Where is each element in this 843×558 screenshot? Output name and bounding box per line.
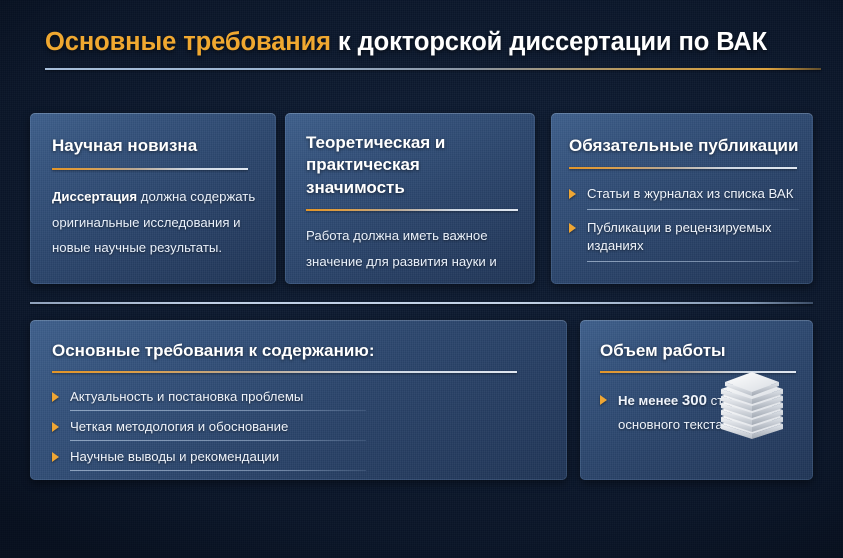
list-item-divider (70, 410, 366, 411)
card-underline (306, 209, 518, 211)
list-item[interactable]: Актуальность и постановка проблемы (52, 388, 366, 411)
bullet-triangle-icon (52, 452, 59, 462)
card-body-scientific-novelty: Диссертация должна содержать оригинальны… (52, 184, 256, 260)
card-title-publications: Обязательные публикации (569, 135, 799, 157)
page-title: Основные требования к докторской диссерт… (45, 28, 820, 57)
card-title-content-requirements: Основные требования к содержанию: (52, 340, 543, 362)
list-item[interactable]: Публикации в рецензируемых изданиях (569, 219, 799, 262)
list-item-divider (70, 470, 366, 471)
list-item-divider (587, 261, 799, 262)
card-theoretical-practical-significance[interactable]: Теоретическая и практическая значимость … (285, 113, 535, 284)
card-body-lead: Диссертация (52, 189, 137, 204)
page-title-plain: к докторской диссертации по ВАК (331, 28, 767, 56)
page-title-accent: Основные требования (45, 28, 331, 56)
card-underline (52, 371, 517, 373)
bullet-triangle-icon (52, 392, 59, 402)
bullet-triangle-icon (52, 422, 59, 432)
list-item[interactable]: Научные выводы и рекомендации (52, 448, 366, 471)
card-underline (52, 168, 248, 170)
bullet-triangle-icon (569, 189, 576, 199)
volume-number: 300 (682, 392, 707, 409)
card-content-requirements[interactable]: Основные требования к содержанию: Актуал… (30, 320, 567, 480)
list-item-label: Статьи в журналах из списка ВАК (587, 185, 799, 203)
list-item[interactable]: Четкая методология и обоснование (52, 418, 366, 441)
content-requirements-list: Актуальность и постановка проблемы Четка… (52, 388, 543, 470)
bullet-triangle-icon (569, 223, 576, 233)
list-item-label: Научные выводы и рекомендации (70, 448, 366, 466)
list-item-label: Публикации в рецензируемых изданиях (587, 219, 799, 255)
bullet-triangle-icon (600, 395, 607, 405)
list-item-divider (587, 209, 799, 210)
paper-stack-icon (713, 372, 791, 444)
section-divider (30, 302, 813, 304)
card-title-significance: Теоретическая и практическая значимость (306, 132, 515, 199)
slide-root: Основные требования к докторской диссерт… (0, 0, 843, 558)
title-underline (45, 68, 821, 70)
card-body-significance: Работа должна иметь важное значение для … (306, 223, 515, 284)
list-item[interactable]: Статьи в журналах из списка ВАК (569, 185, 799, 210)
slide-header: Основные требования к докторской диссерт… (45, 28, 820, 70)
card-scientific-novelty[interactable]: Научная новизна Диссертация должна содер… (30, 113, 276, 284)
card-title-work-volume: Объем работы (600, 340, 795, 362)
card-mandatory-publications[interactable]: Обязательные публикации Статьи в журнала… (551, 113, 813, 284)
list-item-label: Четкая методология и обоснование (70, 418, 366, 436)
card-work-volume[interactable]: Объем работы Не менее 300 страниц основн… (580, 320, 813, 480)
publications-list: Статьи в журналах из списка ВАК Публикац… (569, 185, 799, 261)
card-underline (569, 167, 797, 169)
list-item-label: Актуальность и постановка проблемы (70, 388, 366, 406)
list-item-divider (70, 440, 366, 441)
volume-lead: Не менее (618, 393, 682, 408)
card-title-scientific-novelty: Научная новизна (52, 135, 256, 157)
